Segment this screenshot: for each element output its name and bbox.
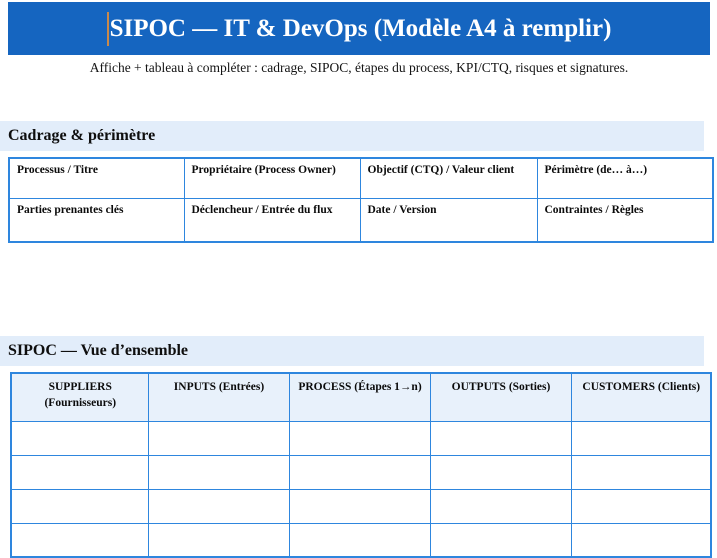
cadrage-cell-perimetre[interactable]: Périmètre (de… à…) [537,158,713,198]
sipoc-header-process-line1: PROCESS (Étapes 1→n) [297,380,424,396]
cadrage-cell-objectif-ctq[interactable]: Objectif (CTQ) / Valeur client [360,158,537,198]
table-row [11,489,711,523]
table-row: Parties prenantes clés Déclencheur / Ent… [9,198,713,242]
sipoc-cell-customers[interactable] [571,489,711,523]
sipoc-cell-suppliers[interactable] [11,455,148,489]
table-row [11,523,711,557]
sipoc-cell-inputs[interactable] [148,455,289,489]
section-heading-cadrage: Cadrage & périmètre [0,127,155,145]
sipoc-cell-outputs[interactable] [430,455,571,489]
table-row [11,421,711,455]
sipoc-cell-outputs[interactable] [430,489,571,523]
sipoc-table: SUPPLIERS (Fournisseurs) INPUTS (Entrées… [10,372,712,558]
cadrage-cell-processus-titre[interactable]: Processus / Titre [9,158,184,198]
document-title-banner: SIPOC — IT & DevOps (Modèle A4 à remplir… [8,2,710,55]
sipoc-cell-customers[interactable] [571,523,711,557]
sipoc-cell-inputs[interactable] [148,421,289,455]
sipoc-header-suppliers-line1: SUPPLIERS [19,380,142,396]
sipoc-cell-inputs[interactable] [148,523,289,557]
table-row: Processus / Titre Propriétaire (Process … [9,158,713,198]
cadrage-cell-parties-prenantes[interactable]: Parties prenantes clés [9,198,184,242]
sipoc-cell-customers[interactable] [571,455,711,489]
cadrage-cell-proprietaire[interactable]: Propriétaire (Process Owner) [184,158,360,198]
sipoc-header-outputs-line1: OUTPUTS (Sorties) [438,380,565,396]
text-cursor-caret [107,12,109,46]
sipoc-cell-suppliers[interactable] [11,523,148,557]
sipoc-cell-process[interactable] [289,489,430,523]
section-header-sipoc: SIPOC — Vue d’ensemble [0,336,704,366]
sipoc-header-suppliers: SUPPLIERS (Fournisseurs) [11,373,148,421]
page-title: SIPOC — IT & DevOps (Modèle A4 à remplir… [110,16,612,41]
sipoc-cell-process[interactable] [289,523,430,557]
sipoc-cell-outputs[interactable] [430,421,571,455]
sipoc-cell-suppliers[interactable] [11,421,148,455]
sipoc-header-suppliers-line2: (Fournisseurs) [19,396,142,412]
sipoc-cell-process[interactable] [289,421,430,455]
sipoc-cell-outputs[interactable] [430,523,571,557]
section-heading-sipoc: SIPOC — Vue d’ensemble [0,342,188,360]
document-subtitle: Affiche + tableau à compléter : cadrage,… [8,60,710,76]
cadrage-cell-date-version[interactable]: Date / Version [360,198,537,242]
sipoc-header-customers-line1: CUSTOMERS (Clients) [579,380,705,396]
sipoc-cell-inputs[interactable] [148,489,289,523]
sipoc-header-outputs: OUTPUTS (Sorties) [430,373,571,421]
sipoc-cell-process[interactable] [289,455,430,489]
table-header-row: SUPPLIERS (Fournisseurs) INPUTS (Entrées… [11,373,711,421]
cadrage-cell-contraintes[interactable]: Contraintes / Règles [537,198,713,242]
sipoc-header-inputs: INPUTS (Entrées) [148,373,289,421]
cadrage-table: Processus / Titre Propriétaire (Process … [8,157,714,243]
sipoc-header-process: PROCESS (Étapes 1→n) [289,373,430,421]
sipoc-cell-customers[interactable] [571,421,711,455]
sipoc-header-customers: CUSTOMERS (Clients) [571,373,711,421]
section-header-cadrage: Cadrage & périmètre [0,121,704,151]
cadrage-cell-declencheur[interactable]: Déclencheur / Entrée du flux [184,198,360,242]
table-row [11,455,711,489]
sipoc-cell-suppliers[interactable] [11,489,148,523]
sipoc-header-inputs-line1: INPUTS (Entrées) [156,380,283,396]
